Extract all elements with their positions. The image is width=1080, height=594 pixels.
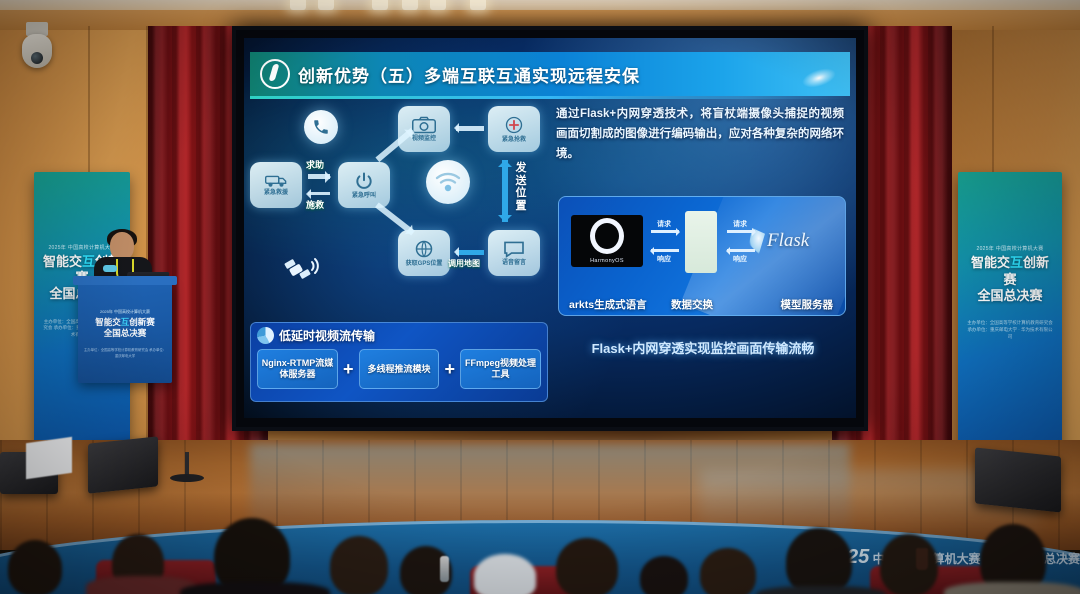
arch-label-response: 响应	[657, 254, 671, 264]
banner-title-line2: 全国总决赛	[977, 288, 1042, 303]
podium-title-a: 智能交	[95, 317, 121, 327]
phone-icon	[304, 110, 338, 144]
flow-arrow-send-location	[502, 160, 508, 222]
audience-head	[700, 548, 756, 594]
ceiling-light	[290, 0, 306, 10]
flow-arrow-label-send-location: 发送位置	[514, 162, 528, 213]
ptz-security-camera-icon	[22, 34, 52, 68]
ceiling-light	[430, 0, 446, 10]
arch-arrow-response-right	[727, 249, 755, 252]
microphone-base	[170, 474, 204, 482]
audience-head	[640, 556, 688, 594]
ceiling-light	[318, 0, 334, 10]
ceiling-light	[470, 0, 486, 10]
arch-arrow-request-left	[651, 230, 679, 233]
banner-sub: 主办单位：全国高等学校计算机教育研究会 承办单位：重庆邮电大学 · 华为技术有限…	[966, 320, 1053, 340]
camera-lens-icon	[31, 52, 43, 64]
flask-logo: Flask	[749, 221, 831, 261]
audience-head	[786, 528, 852, 594]
tech-chip-nginx: Nginx-RTMP流媒体服务器	[257, 349, 338, 389]
drink-cup	[916, 548, 928, 570]
flow-node-label: 紧急救援	[264, 190, 288, 197]
flow-node-label: 获取GPS位置	[406, 261, 443, 268]
audience-shoulders	[756, 586, 886, 594]
banner-kicker: 2025年 中国高校计算机大赛	[966, 245, 1053, 252]
low-latency-card: 低延时视频流传输 Nginx-RTMP流媒体服务器 + 多线程推流模块 + FF…	[250, 322, 548, 402]
ceiling-light	[402, 0, 418, 10]
audience-head	[556, 538, 618, 594]
arch-label-model-server: 模型服务器	[781, 297, 834, 312]
arch-label-arkts: arkts生成式语言	[569, 297, 647, 312]
flow-arrow-rescue	[308, 192, 330, 195]
flask-label: Flask	[767, 230, 809, 252]
auditorium-photo: 创新优势（五）多端互联互通实现远程安保 紧急救援 紧急呼叫 视频监控	[0, 0, 1080, 594]
stage-monitor-speaker-left	[88, 436, 158, 493]
architecture-panel: HarmonyOS Flask 请求 响应 请求 响应 arkts生成式语言 数…	[558, 196, 846, 316]
podium-sub: 主办单位：全国高等学校计算机教育研究会 承办单位：重庆邮电大学	[84, 348, 167, 359]
flow-node-gps-location: 获取GPS位置	[398, 230, 450, 276]
harmonyos-logo: HarmonyOS	[571, 215, 643, 267]
flow-arrow-label-help: 求助	[306, 158, 324, 171]
banner-title-a: 智能交	[43, 254, 82, 269]
handheld-microphone-icon	[103, 265, 117, 272]
flow-node-emergency-medical: 紧急抢救	[488, 106, 540, 152]
ceiling-light	[372, 0, 388, 10]
flow-arrow-label-call-map: 调用地图	[448, 258, 480, 269]
podium-kicker: 2025年 中国高校计算机大赛	[84, 309, 167, 315]
harmonyos-label: HarmonyOS	[590, 258, 624, 264]
arch-label-response: 响应	[733, 254, 747, 264]
rollup-banner-right: 2025年 中国高校计算机大赛 智能交互创新赛 全国总决赛 主办单位：全国高等学…	[958, 172, 1062, 454]
brand-swirl-icon	[260, 59, 290, 89]
tech-chip-multithread: 多线程推流模块	[359, 349, 440, 389]
plus-sign: +	[444, 359, 455, 380]
flow-arrow-to-gps	[375, 202, 415, 235]
flow-node-label: 紧急抢救	[502, 137, 526, 144]
banner-title-accent: 互	[1010, 255, 1023, 270]
flow-arrow-label-rescue: 施救	[306, 198, 324, 211]
wifi-icon	[426, 160, 470, 204]
podium-title-b: 创新赛	[129, 317, 155, 327]
plus-sign: +	[343, 359, 354, 380]
arch-label-request: 请求	[657, 219, 671, 229]
slide-title-bar: 创新优势（五）多端互联互通实现远程安保	[250, 52, 850, 96]
low-latency-title: 低延时视频流传输	[279, 327, 375, 344]
flow-node-emergency-call: 紧急呼叫	[338, 162, 390, 208]
flow-node-label: 语音留言	[502, 260, 526, 267]
stage-paper-sheet	[26, 437, 72, 479]
audience-shoulders	[944, 582, 1080, 594]
slide-paragraph: 通过Flask+内网穿透技术，将盲杖端摄像头捕捉的视频画面切割成的图像进行编码输…	[556, 104, 844, 164]
audience-cap	[474, 554, 536, 594]
flow-node-rescue-vehicle: 紧急救援	[250, 162, 302, 208]
flow-arrow-help	[308, 174, 330, 179]
audience-head	[330, 536, 388, 594]
arch-label-request: 请求	[733, 219, 747, 229]
data-exchange-block	[685, 211, 717, 273]
audience-head	[880, 534, 938, 594]
water-bottle	[440, 556, 449, 582]
flow-node-contact-message: 语音留言	[488, 230, 540, 276]
flow-node-label: 视频监控	[412, 136, 436, 143]
flow-node-label: 紧急呼叫	[352, 193, 376, 200]
audience-shoulders	[180, 582, 330, 594]
presenter-head	[110, 232, 134, 260]
podium-title-line2: 全国总决赛	[104, 328, 147, 338]
podium: 2025年 中国高校计算机大赛 智能交互创新赛 全国总决赛 主办单位：全国高等学…	[78, 283, 172, 383]
flow-arrow-message-to-gps	[456, 250, 484, 255]
satellite-icon	[284, 252, 324, 288]
arch-arrow-request-right	[727, 230, 755, 233]
arch-label-exchange: 数据交换	[671, 297, 713, 312]
slide-bottom-caption: Flask+内网穿透实现监控画面传输流畅	[558, 338, 848, 357]
podium-title-accent: 互	[121, 317, 130, 327]
slide-title-text: 创新优势（五）多端互联互通实现远程安保	[298, 62, 640, 87]
flow-diagram: 紧急救援 紧急呼叫 视频监控 紧急抢救 获取GPS位置 语音留言	[250, 104, 550, 314]
title-underline	[250, 96, 850, 99]
light-burst-icon	[800, 65, 837, 91]
pie-chart-icon	[257, 327, 274, 344]
tech-chip-ffmpeg: FFmpeg视频处理工具	[460, 349, 541, 389]
presentation-screen: 创新优势（五）多端互联互通实现远程安保 紧急救援 紧急呼叫 视频监控	[244, 38, 856, 418]
flow-arrow-medical-to-camera	[456, 126, 484, 131]
banner-title-a: 智能交	[971, 255, 1010, 270]
audience-head	[8, 540, 62, 594]
stage-monitor-speaker-right	[975, 447, 1061, 512]
arch-arrow-response-left	[651, 249, 679, 252]
